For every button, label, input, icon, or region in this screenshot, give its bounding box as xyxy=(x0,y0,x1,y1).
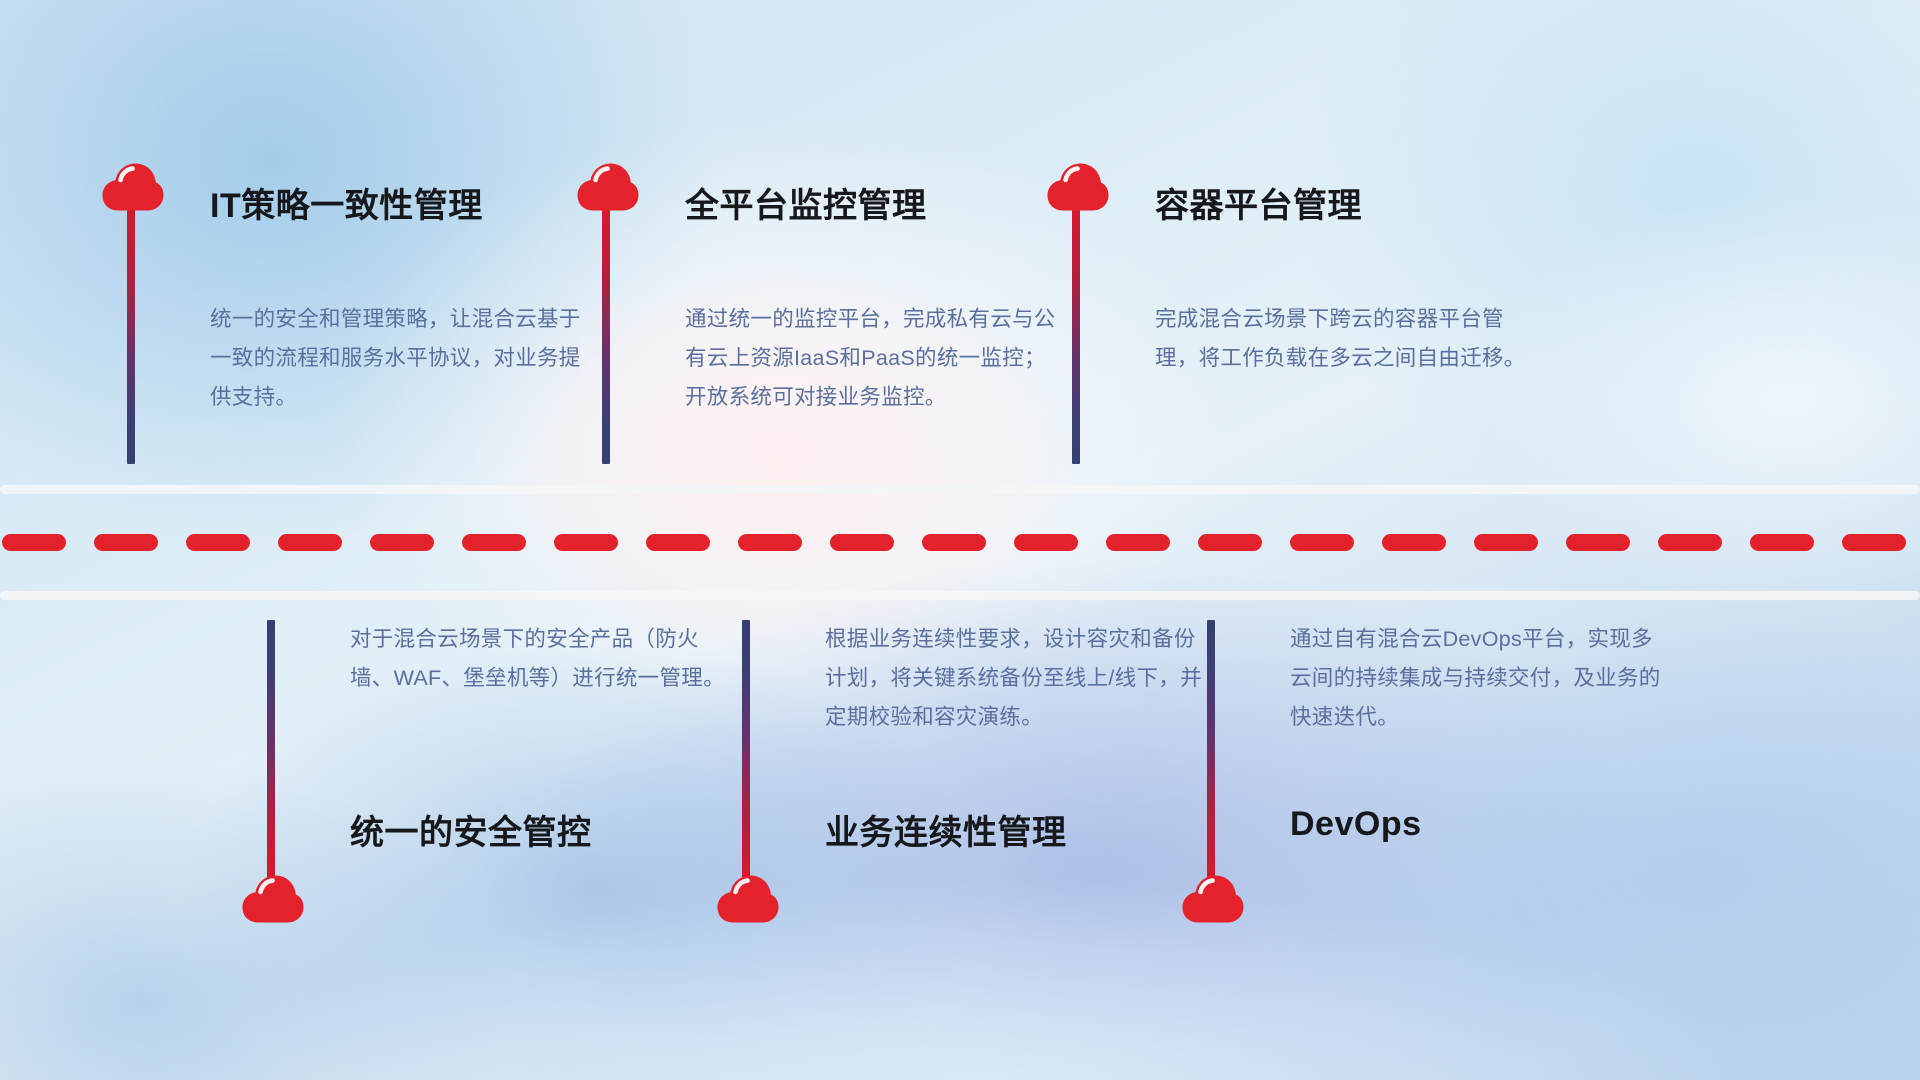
card-body: 通过自有混合云DevOps平台，实现多云间的持续集成与持续交付，及业务的快速迭代… xyxy=(1290,620,1670,737)
divider-dash xyxy=(1106,534,1170,551)
divider-dash xyxy=(922,534,986,551)
card-body: 统一的安全和管理策略，让混合云基于一致的流程和服务水平协议，对业务提供支持。 xyxy=(210,300,590,417)
divider-dash xyxy=(1658,534,1722,551)
cloud-icon xyxy=(715,872,781,926)
divider-dash xyxy=(1842,534,1906,551)
divider-dash xyxy=(1382,534,1446,551)
card-body: 通过统一的监控平台，完成私有云与公有云上资源IaaS和PaaS的统一监控；开放系… xyxy=(685,300,1065,417)
divider-dash xyxy=(646,534,710,551)
card-title: 全平台监控管理 xyxy=(685,178,927,227)
card-body: 根据业务连续性要求，设计容灾和备份计划，将关键系统备份至线上/线下，并定期校验和… xyxy=(825,620,1205,737)
divider-dash xyxy=(1014,534,1078,551)
card-title: IT策略一致性管理 xyxy=(210,178,483,227)
card-title: 业务连续性管理 xyxy=(825,805,1067,854)
divider-dash xyxy=(186,534,250,551)
divider-dash xyxy=(2,534,66,551)
card-title: DevOps xyxy=(1290,805,1422,844)
divider-dash xyxy=(830,534,894,551)
divider-dash xyxy=(1290,534,1354,551)
cloud-icon xyxy=(1180,872,1246,926)
card-body: 完成混合云场景下跨云的容器平台管理，将工作负载在多云之间自由迁移。 xyxy=(1155,300,1535,378)
divider-dash xyxy=(1474,534,1538,551)
divider-dash-row xyxy=(0,533,1920,551)
card-title: 容器平台管理 xyxy=(1155,178,1362,227)
dashed-divider xyxy=(0,485,1920,600)
connector-bar xyxy=(1072,204,1080,464)
infographic-canvas: IT策略一致性管理 统一的安全和管理策略，让混合云基于一致的流程和服务水平协议，… xyxy=(0,0,1920,1080)
divider-dash xyxy=(370,534,434,551)
divider-dash xyxy=(278,534,342,551)
divider-dash xyxy=(462,534,526,551)
divider-dash xyxy=(1750,534,1814,551)
background-glow-top-left xyxy=(0,0,720,540)
connector-bar xyxy=(1207,620,1215,880)
connector-bar xyxy=(742,620,750,880)
card-body: 对于混合云场景下的安全产品（防火墙、WAF、堡垒机等）进行统一管理。 xyxy=(350,620,730,698)
card-title: 统一的安全管控 xyxy=(350,805,592,854)
connector-bar xyxy=(267,620,275,880)
cloud-icon xyxy=(100,160,166,214)
cloud-icon xyxy=(1045,160,1111,214)
connector-bar xyxy=(127,204,135,464)
connector-bar xyxy=(602,204,610,464)
cloud-icon xyxy=(575,160,641,214)
cloud-icon xyxy=(240,872,306,926)
divider-dash xyxy=(738,534,802,551)
divider-dash xyxy=(1566,534,1630,551)
divider-rule-bottom xyxy=(0,591,1920,600)
divider-dash xyxy=(1198,534,1262,551)
divider-dash xyxy=(94,534,158,551)
divider-rule-top xyxy=(0,485,1920,494)
divider-dash xyxy=(554,534,618,551)
background-glow-top-right xyxy=(1290,0,1920,520)
background-glow-bottom xyxy=(240,880,1740,1080)
